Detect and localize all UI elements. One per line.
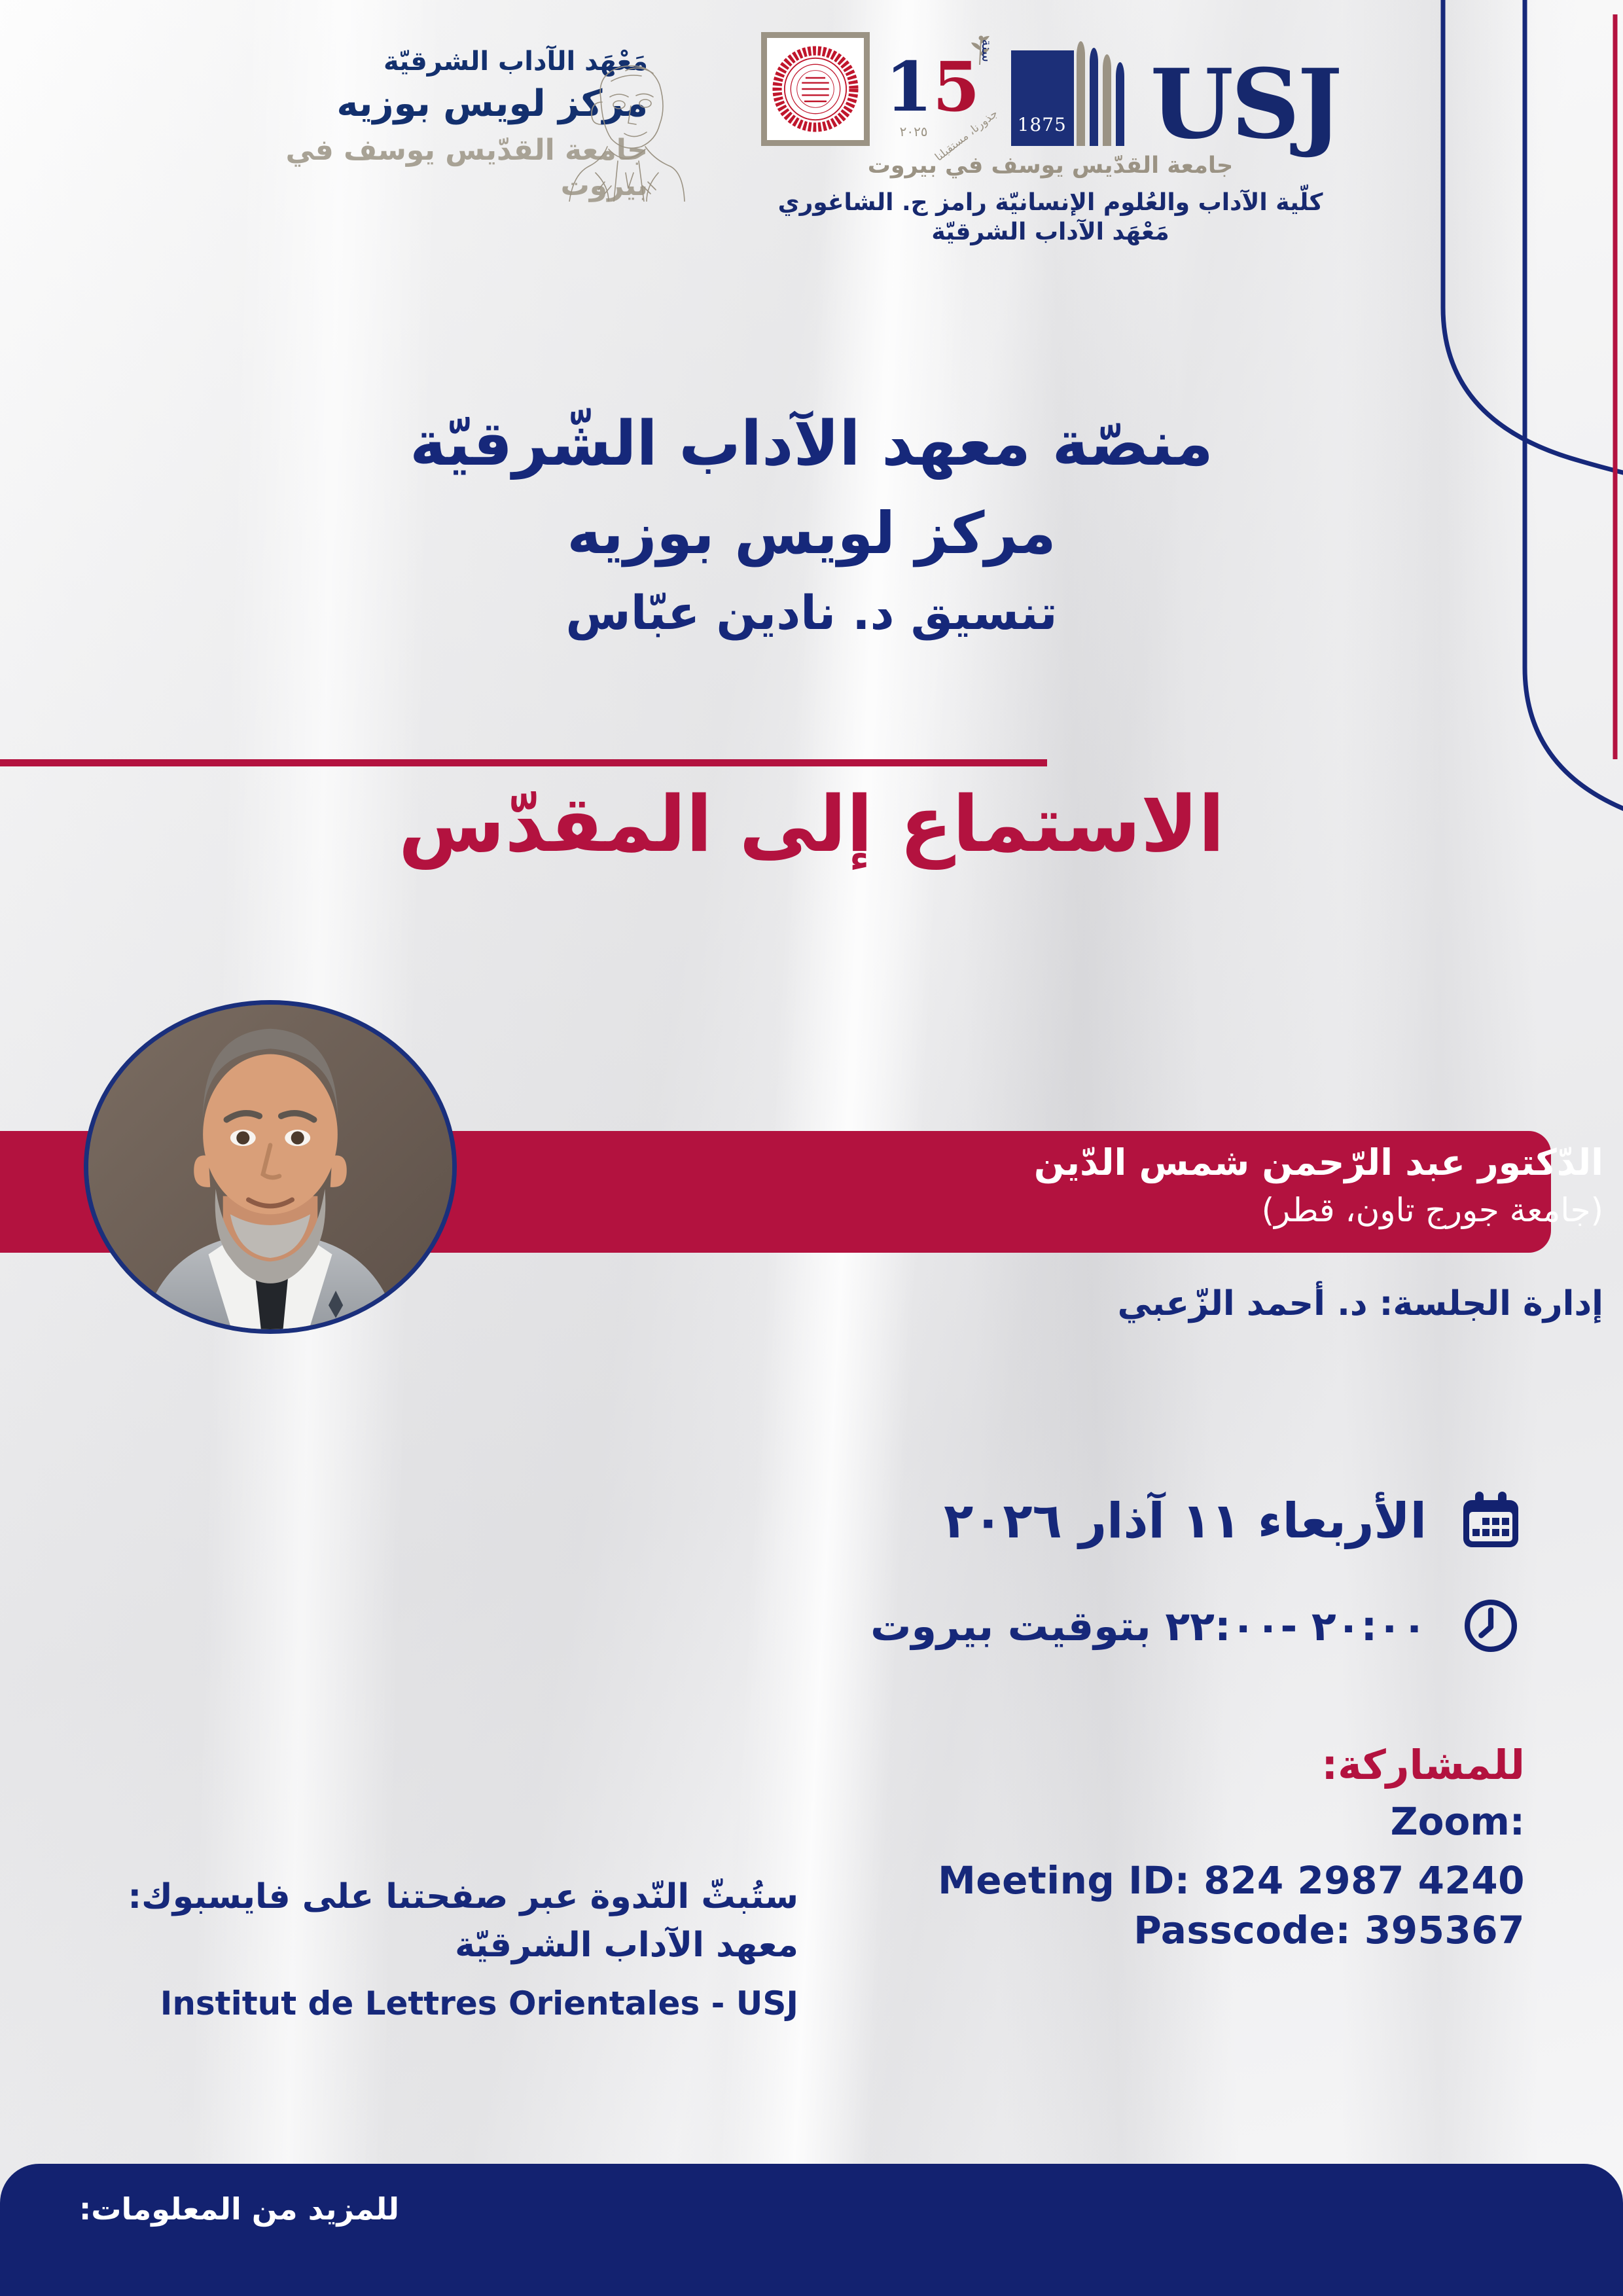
anniversary-unit: سنة (980, 39, 995, 62)
speaker-photo-illustration (88, 1005, 452, 1329)
red-divider-rule (0, 759, 1047, 766)
poster-canvas: مَعْهَد الآداب الشرقيّة مركز لويس بوزيه … (0, 0, 1623, 2296)
louis-pouzet-portrait-icon (563, 51, 687, 202)
participation-heading: للمشاركة: (772, 1741, 1525, 1789)
usj-bars-mark: 1875 (1011, 41, 1139, 146)
usj-institute: مَعْهَد الآداب الشرقيّة (700, 219, 1400, 245)
event-time-row: ٢٠:٠٠ -٢٢:٠٠ بتوقيت بيروت (98, 1592, 1525, 1660)
anniversary-year: ٢٠٢٥ (900, 124, 928, 139)
event-headline: الاستماع إلى المقدّس (92, 779, 1531, 869)
event-date-text: الأربعاء ١١ آذار ٢٠٢٦ (944, 1493, 1427, 1549)
facebook-note: ستُبثّ النّدوة عبر صفحتنا على فايسبوك: (92, 1873, 798, 1922)
participation-block: للمشاركة: Zoom: Meeting ID: 824 2987 424… (772, 1741, 1525, 1952)
zoom-meeting-id[interactable]: Meeting ID: 824 2987 4240 (772, 1858, 1525, 1903)
footer-bar: للمزيد من المعلومات: ilo@usj.edu.lb الها… (0, 2164, 1623, 2296)
event-date-row: الأربعاء ١١ آذار ٢٠٢٦ (98, 1487, 1525, 1555)
anniversary-number: 15 (885, 53, 980, 121)
usj-150-anniversary-mark: 15 سنة ٢٠٢٥ جذورنا، مستقبلنا (882, 36, 999, 146)
facebook-page-name-fr[interactable]: Institut de Lettres Orientales - USJ (92, 1984, 798, 2022)
facebook-broadcast-block: ستُبثّ النّدوة عبر صفحتنا على فايسبوك: م… (92, 1873, 798, 2022)
usj-seal-icon (772, 46, 859, 132)
platform-title-line1: منصّة معهد الآداب الشّرقيّة (236, 406, 1387, 483)
zoom-label: Zoom: (772, 1799, 1525, 1844)
platform-title-block: منصّة معهد الآداب الشّرقيّة مركز لويس بو… (236, 406, 1387, 645)
platform-coordinator: تنسيق د. نادين عبّاس (236, 581, 1387, 645)
usj-logo-block: USJ 1875 15 سنة ٢٠٢٥ (700, 36, 1400, 245)
footer-more-info-label: للمزيد من المعلومات: (79, 2191, 399, 2227)
event-time-text: ٢٠:٠٠ -٢٢:٠٠ بتوقيت بيروت (870, 1602, 1427, 1650)
speaker-avatar (84, 1000, 457, 1334)
zoom-passcode[interactable]: Passcode: 395367 (772, 1908, 1525, 1952)
usj-founded-year: 1875 (1018, 114, 1067, 135)
calendar-icon (1457, 1487, 1525, 1555)
facebook-page-name-ar[interactable]: معهد الآداب الشرقيّة (92, 1922, 798, 1970)
usj-faculty: كلّية الآداب والعُلوم الإنسانيّة رامز ج.… (700, 188, 1400, 219)
clock-icon (1457, 1592, 1525, 1660)
usj-wordmark: USJ (1150, 63, 1340, 146)
usj-seal (761, 32, 870, 146)
platform-title-line2: مركز لويس بوزيه (236, 495, 1387, 573)
